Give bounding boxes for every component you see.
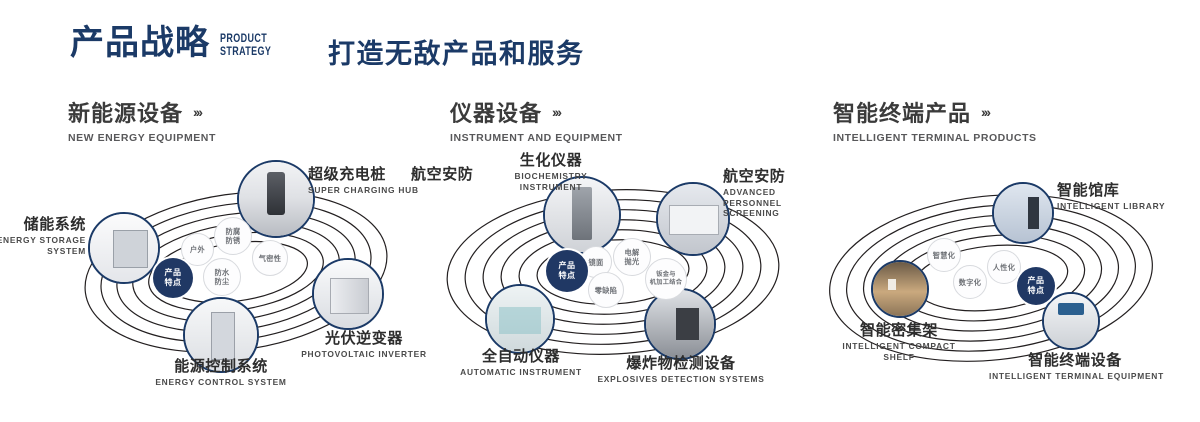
section-title-en: INTELLIGENT TERMINAL PRODUCTS [833, 132, 1037, 144]
diagram-group-instrument: 生化仪器 BIOCHEMISTRY INSTRUMENT 航空安防 航空安防 A… [413, 150, 813, 400]
node-label-cn: 生化仪器 [481, 152, 621, 169]
page-title-en: PRODUCT STRATEGY [220, 33, 271, 58]
feature-bubble-humanization: 人性化 [987, 250, 1021, 284]
diagram-group-intelligent: 智能馆库 INTELLIGENT LIBRARY 智能密集架 INTELLIGE… [795, 150, 1195, 400]
product-photo [487, 286, 553, 352]
node-advanced-personnel-screening[interactable] [656, 182, 730, 256]
node-label-biochemistry-instrument: 生化仪器 BIOCHEMISTRY INSTRUMENT [481, 152, 621, 192]
node-label-en: BIOCHEMISTRY INSTRUMENT [481, 171, 621, 192]
node-intelligent-compact-shelf[interactable] [871, 260, 929, 318]
node-label-en: AUTOMATIC INSTRUMENT [445, 367, 597, 378]
section-title-en: NEW ENERGY EQUIPMENT [68, 132, 216, 144]
diagram-group-new-energy: 超级充电桩 SUPER CHARGING HUB 储能系统 ENERGY STO… [40, 150, 440, 400]
product-photo [873, 262, 927, 316]
node-label-intelligent-library: 智能馆库 INTELLIGENT LIBRARY [1057, 182, 1165, 212]
page-subtitle: 打造无敌产品和服务 [328, 32, 585, 71]
product-photo [994, 184, 1052, 242]
node-intelligent-library[interactable] [992, 182, 1054, 244]
node-label-photovoltaic-inverter: 光伏逆变器 PHOTOVOLTAIC INVERTER [298, 330, 430, 360]
feature-bubble-sheetmetal-machining: 钣金与 机加工结合 [645, 258, 687, 300]
feature-bubble-anticorrosion: 防腐 防锈 [214, 217, 252, 255]
node-label-en: SUPER CHARGING HUB [308, 185, 419, 196]
product-photo [658, 184, 728, 254]
node-label-en: PHOTOVOLTAIC INVERTER [298, 349, 430, 360]
node-label-en: INTELLIGENT COMPACT SHELF [833, 341, 965, 362]
page-title-cn: 产品战略 [70, 26, 210, 60]
feature-bubble-electropolishing: 电解 抛光 [613, 238, 651, 276]
node-label-cn: 智能密集架 [833, 322, 965, 339]
product-photo [239, 162, 313, 236]
feature-bubble-outdoor: 户外 [181, 233, 214, 266]
section-heading-intelligent: 智能终端产品 ››› INTELLIGENT TERMINAL PRODUCTS [833, 96, 1037, 144]
center-badge-product-features: 产品 特点 [153, 258, 193, 298]
node-intelligent-terminal-equipment[interactable] [1042, 292, 1100, 350]
product-photo [646, 290, 714, 358]
feature-bubble-waterproof: 防水 防尘 [203, 258, 241, 296]
node-label-cn: 光伏逆变器 [298, 330, 430, 347]
center-badge-product-features: 产品 特点 [1017, 267, 1055, 305]
node-label-energy-storage-system: 储能系统 ENERGY STORAGE SYSTEM [0, 216, 86, 256]
chevron-right-icon: ››› [981, 104, 989, 120]
product-photo [1044, 294, 1098, 348]
node-label-aviation-security-left: 航空安防 [411, 166, 473, 183]
section-title-cn: 智能终端产品 [833, 96, 971, 128]
product-strategy-infographic: 产品战略 PRODUCT STRATEGY 打造无敌产品和服务 新能源设备 ››… [0, 0, 1200, 422]
node-label-intelligent-terminal-equipment: 智能终端设备 INTELLIGENT TERMINAL EQUIPMENT [989, 352, 1161, 382]
section-title-cn: 新能源设备 [68, 96, 183, 128]
node-automatic-instrument[interactable] [485, 284, 555, 354]
node-label-cn: 航空安防 [411, 166, 473, 183]
node-label-cn: 智能终端设备 [989, 352, 1161, 369]
product-photo [90, 214, 158, 282]
feature-bubble-airtight: 气密性 [252, 240, 288, 276]
node-label-cn: 爆炸物检测设备 [593, 355, 769, 372]
node-label-en: ENERGY CONTROL SYSTEM [146, 377, 296, 388]
node-label-en: EXPLOSIVES DETECTION SYSTEMS [593, 374, 769, 385]
section-heading-new-energy: 新能源设备 ››› NEW ENERGY EQUIPMENT [68, 96, 216, 144]
node-explosives-detection-systems[interactable] [644, 288, 716, 360]
feature-bubble-zero-defect: 零缺陷 [588, 272, 624, 308]
chevron-right-icon: ››› [552, 104, 560, 120]
node-label-intelligent-compact-shelf: 智能密集架 INTELLIGENT COMPACT SHELF [833, 322, 965, 362]
feature-bubble-intelligentization: 智慧化 [927, 238, 961, 272]
feature-bubble-digitalization: 数字化 [953, 265, 987, 299]
node-label-super-charging-hub: 超级充电桩 SUPER CHARGING HUB [308, 166, 419, 196]
node-label-cn: 超级充电桩 [308, 166, 419, 183]
node-label-en: INTELLIGENT TERMINAL EQUIPMENT [989, 371, 1161, 382]
node-label-explosives-detection-systems: 爆炸物检测设备 EXPLOSIVES DETECTION SYSTEMS [593, 355, 769, 385]
section-title-en: INSTRUMENT AND EQUIPMENT [450, 132, 623, 144]
section-heading-instrument: 仪器设备 ››› INSTRUMENT AND EQUIPMENT [450, 96, 623, 144]
node-label-en: ENERGY STORAGE SYSTEM [0, 235, 86, 256]
node-photovoltaic-inverter[interactable] [312, 258, 384, 330]
product-photo [314, 260, 382, 328]
center-badge-product-features: 产品 特点 [546, 250, 588, 292]
node-label-en: INTELLIGENT LIBRARY [1057, 201, 1165, 212]
main-title-block: 产品战略 PRODUCT STRATEGY [70, 26, 286, 60]
node-energy-storage-system[interactable] [88, 212, 160, 284]
node-label-cn: 智能馆库 [1057, 182, 1165, 199]
section-title-cn: 仪器设备 [450, 96, 542, 128]
node-label-cn: 全自动仪器 [445, 348, 597, 365]
chevron-right-icon: ››› [193, 104, 201, 120]
node-label-cn: 储能系统 [0, 216, 86, 233]
node-label-energy-control-system: 能源控制系统 ENERGY CONTROL SYSTEM [146, 358, 296, 388]
node-label-cn: 能源控制系统 [146, 358, 296, 375]
node-label-automatic-instrument: 全自动仪器 AUTOMATIC INSTRUMENT [445, 348, 597, 378]
